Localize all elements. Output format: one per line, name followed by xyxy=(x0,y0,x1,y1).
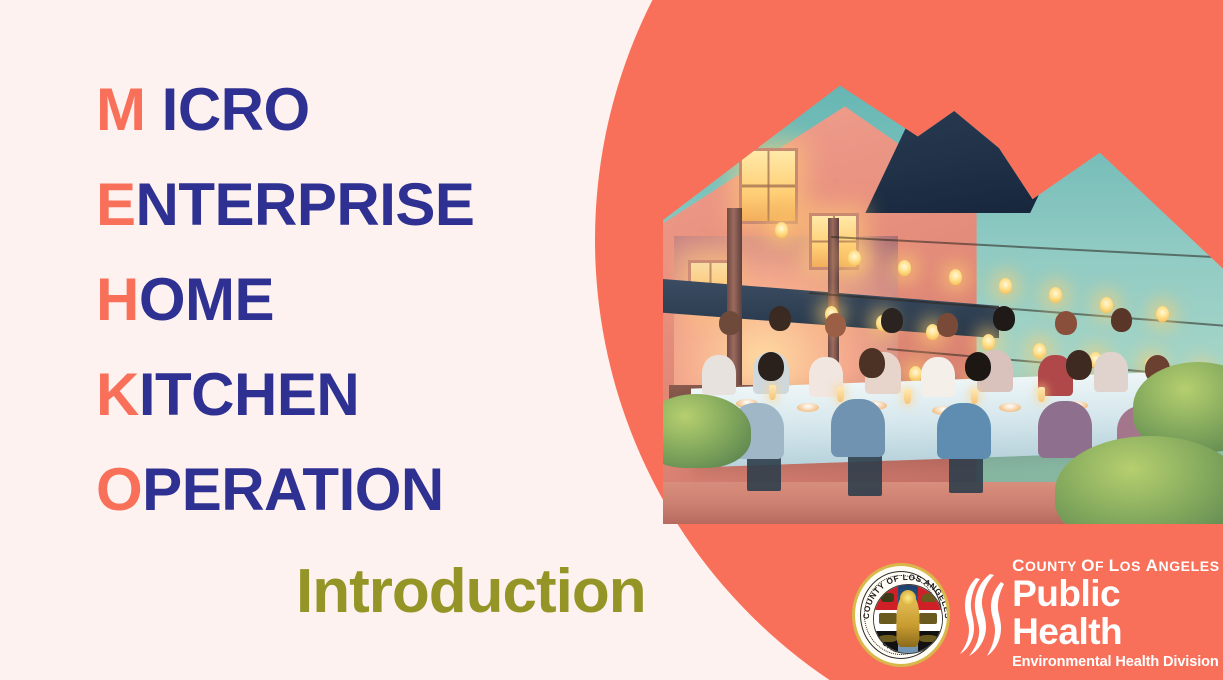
headline-rest-micro: ICRO xyxy=(145,76,309,143)
headline-line-5: OPERATION xyxy=(96,442,656,537)
headline-rest-home: OME xyxy=(139,266,274,333)
headline-initial-m: M xyxy=(96,76,145,143)
public-health-profile-mark-icon xyxy=(960,572,1004,658)
logo-county-line: COUNTY oF LOS ANGELES xyxy=(1012,558,1223,574)
headline-rest-enterprise: NTERPRISE xyxy=(136,171,475,238)
headline-initial-e: E xyxy=(96,171,136,238)
headline-initial-k: K xyxy=(96,361,139,428)
slide-canvas: M ICRO ENTERPRISE HOME KITCHEN OPERATION… xyxy=(0,0,1223,680)
page-title: M ICRO ENTERPRISE HOME KITCHEN OPERATION xyxy=(96,62,656,537)
logo-main-line: Public Health xyxy=(1012,575,1223,651)
headline-line-4: KITCHEN xyxy=(96,347,656,442)
la-county-public-health-logo: COUNTY OF LOS ANGELES CALIFORNIA xyxy=(852,558,1223,671)
logo-division-line: Environmental Health Division xyxy=(1012,654,1223,671)
headline-rest-operation: PERATION xyxy=(142,456,444,523)
headline-rest-kitchen: ITCHEN xyxy=(139,361,359,428)
headline-initial-h: H xyxy=(96,266,139,333)
headline-line-2: ENTERPRISE xyxy=(96,157,656,252)
la-county-seal-icon: COUNTY OF LOS ANGELES CALIFORNIA xyxy=(852,563,950,667)
headline-initial-o: O xyxy=(96,456,142,523)
headline-line-1: M ICRO xyxy=(96,62,656,157)
headline-line-3: HOME xyxy=(96,252,656,347)
subtitle: Introduction xyxy=(296,556,646,627)
